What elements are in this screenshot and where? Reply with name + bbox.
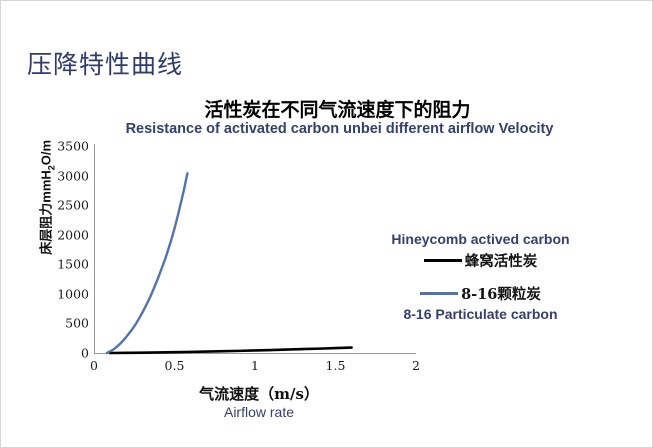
legend-label-honeycomb-cn: 蜂窝活性炭 [465,250,538,271]
x-tick-1: 1 [251,358,259,373]
x-tick-1-5: 1.5 [326,358,346,373]
legend-label-particulate-cn: 8-16颗粒炭 [461,283,541,304]
chart-legend: Hineycomb actived carbon 蜂窝活性炭 8-16颗粒炭 8… [373,231,588,322]
x-tick-0: 0 [90,358,98,373]
legend-item-particulate[interactable]: 8-16颗粒炭 [373,283,588,304]
x-axis-label-english: Airflow rate [119,404,399,420]
legend-label-particulate-en: 8-16 Particulate carbon [373,306,588,322]
series-8-16-particulate-carbon [107,173,188,353]
slide-canvas: 压降特性曲线 活性炭在不同气流速度下的阻力 Resistance of acti… [0,0,653,448]
legend-label-honeycomb-en: Hineycomb actived carbon [373,231,588,247]
legend-swatch-blue-line [420,292,458,295]
chart-plot-area [1,1,653,448]
x-tick-2: 2 [412,358,420,373]
legend-swatch-black-line [424,259,462,262]
x-axis-label-chinese: 气流速度（m/s） [119,383,399,404]
legend-item-honeycomb[interactable]: 蜂窝活性炭 [373,250,588,271]
x-tick-0-5: 0.5 [165,358,185,373]
series-honeycomb-activated-carbon [110,348,352,353]
